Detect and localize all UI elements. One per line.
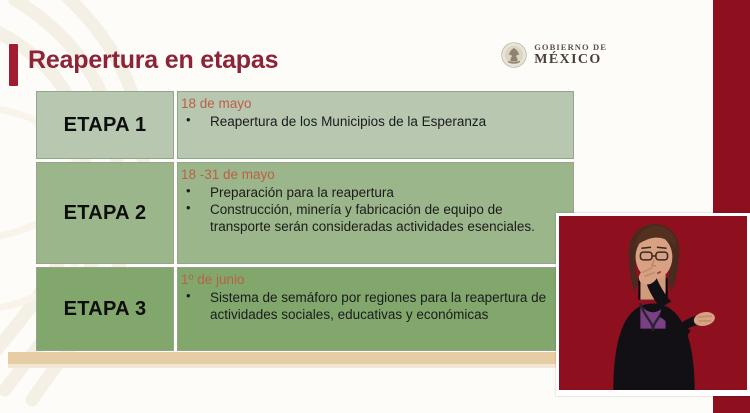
- logo-wordmark: GOBIERNO DE MÉXICO: [534, 43, 607, 68]
- stage-label: ETAPA 3: [64, 298, 147, 321]
- stage-body-cell: 18 -31 de mayo Preparación para la reape…: [177, 162, 574, 264]
- logo-line-gobierno: GOBIERNO DE: [534, 43, 607, 52]
- bullet-list: Reapertura de los Municipios de la Esper…: [181, 113, 565, 130]
- stage-label: ETAPA 2: [64, 202, 147, 225]
- interpreter-video-frame: [559, 216, 747, 390]
- table-row: ETAPA 2 18 -31 de mayo Preparación para …: [36, 162, 574, 264]
- list-item: Reapertura de los Municipios de la Esper…: [181, 113, 565, 130]
- bottom-decorative-band: [8, 352, 588, 364]
- list-item: Preparación para la reapertura: [181, 184, 565, 201]
- bullet-list: Sistema de semáforo por regiones para la…: [181, 289, 565, 323]
- stage-label: ETAPA 1: [64, 114, 147, 137]
- stage-date: 18 de mayo: [181, 96, 565, 112]
- slide-header: Reapertura en etapas GOBIERNO DE MÉXICO: [0, 34, 750, 92]
- logo-line-mexico: MÉXICO: [534, 53, 607, 67]
- slide-canvas: Reapertura en etapas GOBIERNO DE MÉXICO …: [0, 0, 750, 413]
- stage-label-cell: ETAPA 3: [36, 267, 174, 351]
- table-row: ETAPA 3 1º de junio Sistema de semáforo …: [36, 267, 574, 351]
- list-item: Sistema de semáforo por regiones para la…: [181, 289, 565, 323]
- stage-body-cell: 1º de junio Sistema de semáforo por regi…: [177, 267, 574, 351]
- table-row: ETAPA 1 18 de mayo Reapertura de los Mun…: [36, 91, 574, 159]
- sign-language-interpreter-video[interactable]: [556, 213, 750, 396]
- stage-label-cell: ETAPA 1: [36, 91, 174, 159]
- stage-label-cell: ETAPA 2: [36, 162, 174, 264]
- page-title: Reapertura en etapas: [28, 46, 278, 75]
- stages-table: ETAPA 1 18 de mayo Reapertura de los Mun…: [36, 91, 574, 351]
- gobierno-de-mexico-logo: GOBIERNO DE MÉXICO: [501, 42, 607, 68]
- title-accent-bar: [9, 44, 18, 86]
- stage-body-cell: 18 de mayo Reapertura de los Municipios …: [177, 91, 574, 159]
- list-item: Construcción, minería y fabricación de e…: [181, 201, 565, 235]
- stage-date: 18 -31 de mayo: [181, 167, 565, 183]
- bullet-list: Preparación para la reapertura Construcc…: [181, 184, 565, 235]
- bottom-band-shadow: [8, 364, 588, 368]
- stage-date: 1º de junio: [181, 272, 565, 288]
- mexican-eagle-emblem-icon: [501, 42, 527, 68]
- interpreter-figure: [559, 216, 747, 390]
